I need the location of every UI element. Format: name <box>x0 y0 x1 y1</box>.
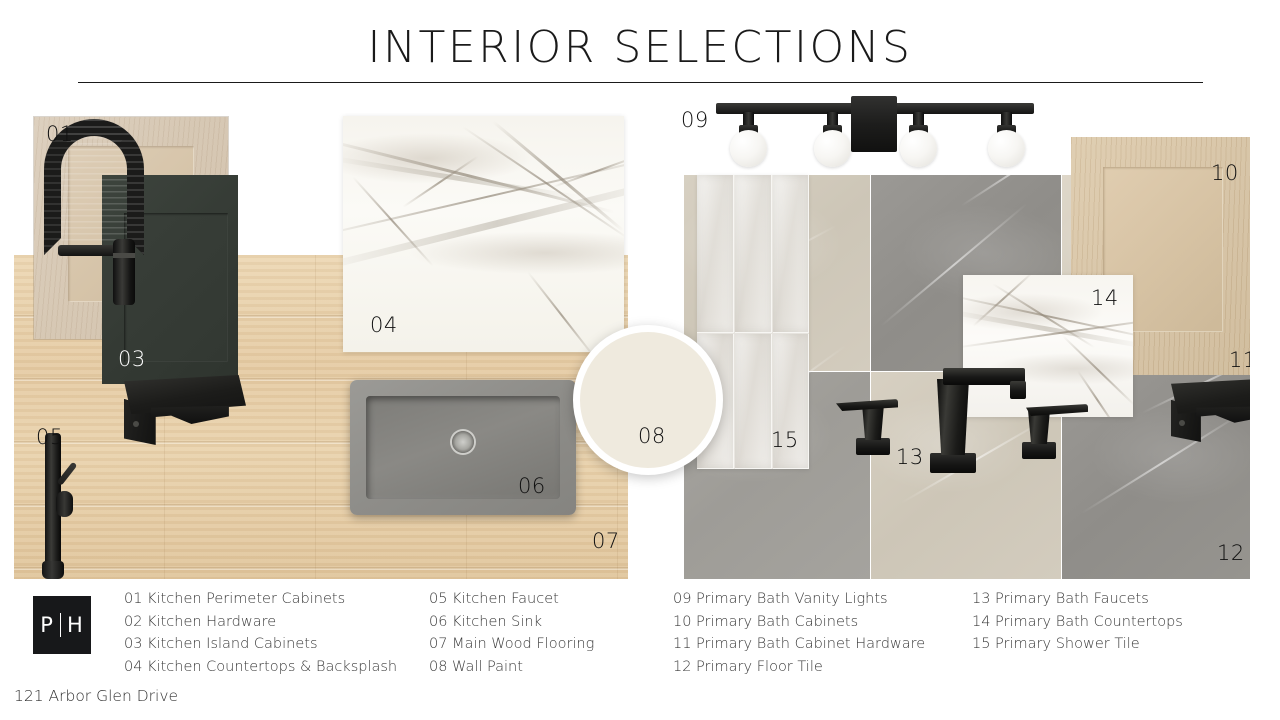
pull-lip <box>1196 406 1250 423</box>
legend-column-1: 01 Kitchen Perimeter Cabinets 02 Kitchen… <box>124 588 397 678</box>
faucet-base <box>42 561 64 579</box>
logo-mark: P H <box>40 613 83 637</box>
legend-item: 13 Primary Bath Faucets <box>972 588 1183 611</box>
shower-tile-plank <box>735 175 772 333</box>
faucet-sprayer-band <box>113 253 135 258</box>
swatch-label-14: 14 <box>1091 286 1119 310</box>
tile-vein <box>961 175 1062 206</box>
legend: 01 Kitchen Perimeter Cabinets 02 Kitchen… <box>0 588 1280 688</box>
marble-vein <box>343 174 624 273</box>
swatch-kitchen-countertops-backsplash[interactable]: 04 <box>343 116 624 352</box>
light-globe <box>814 130 851 167</box>
swatch-primary-bath-vanity-lights[interactable]: 09 <box>716 96 1034 168</box>
light-globe <box>900 130 937 167</box>
faucet-coil-highlights <box>44 119 144 255</box>
project-address: 121 Arbor Glen Drive <box>14 687 178 705</box>
faucet-handle-base <box>856 438 890 455</box>
legend-item: 02 Kitchen Hardware <box>124 611 397 634</box>
shower-tile-plank <box>735 334 772 469</box>
light-globe <box>988 130 1025 167</box>
pull-lip <box>151 406 229 424</box>
bath-selections-collage: 12 15 10 11 14 <box>684 113 1250 579</box>
legend-item: 01 Kitchen Perimeter Cabinets <box>124 588 397 611</box>
swatch-wall-paint[interactable]: 08 <box>573 325 723 475</box>
logo-letter-p: P <box>40 613 54 637</box>
marble-vein <box>527 271 596 352</box>
legend-item: 14 Primary Bath Countertops <box>972 611 1183 634</box>
pull-screw-hole <box>133 421 139 427</box>
logo-divider <box>60 613 61 637</box>
legend-item: 11 Primary Bath Cabinet Hardware <box>673 633 925 656</box>
legend-item: 09 Primary Bath Vanity Lights <box>673 588 925 611</box>
faucet-spout-base <box>930 453 976 473</box>
legend-item: 10 Primary Bath Cabinets <box>673 611 925 634</box>
swatch-label-08: 08 <box>638 424 666 448</box>
swatch-label-07: 07 <box>592 529 620 553</box>
faucet-handle-knob <box>56 491 73 517</box>
kitchen-selections-collage: 07 01 03 04 06 <box>14 113 628 579</box>
faucet-handle-lever <box>1026 404 1088 416</box>
logo-letter-h: H <box>67 613 84 637</box>
page-title: INTERIOR SELECTIONS <box>0 22 1280 73</box>
legend-item: 06 Kitchen Sink <box>429 611 594 634</box>
faucet-handle-lever <box>836 399 898 411</box>
swatch-kitchen-sink[interactable]: 06 <box>350 380 576 515</box>
legend-column-2: 05 Kitchen Faucet 06 Kitchen Sink 07 Mai… <box>429 588 594 678</box>
company-logo: P H <box>33 596 91 654</box>
faucet-spout-tip <box>1010 381 1026 399</box>
light-globe <box>730 130 767 167</box>
legend-item: 04 Kitchen Countertops & Backsplash <box>124 656 397 679</box>
shower-tile-plank <box>773 334 809 469</box>
swatch-label-04: 04 <box>370 313 398 337</box>
legend-item: 12 Primary Floor Tile <box>673 656 925 679</box>
shower-tile-plank <box>773 175 809 333</box>
legend-column-3: 09 Primary Bath Vanity Lights 10 Primary… <box>673 588 925 678</box>
legend-item: 07 Main Wood Flooring <box>429 633 594 656</box>
legend-column-4: 13 Primary Bath Faucets 14 Primary Bath … <box>972 588 1183 656</box>
swatch-primary-bath-faucets[interactable]: 13 <box>844 343 1114 473</box>
legend-item: 03 Kitchen Island Cabinets <box>124 633 397 656</box>
light-backplate <box>851 96 897 152</box>
faucet-spout-column <box>937 379 969 455</box>
faucet-sprayer-head <box>113 239 135 305</box>
swatch-primary-bath-cabinet-hardware[interactable]: 11 <box>1171 378 1250 442</box>
shower-tile-plank <box>697 175 734 333</box>
legend-item: 15 Primary Shower Tile <box>972 633 1183 656</box>
swatch-label-13: 13 <box>896 445 924 469</box>
legend-item: 05 Kitchen Faucet <box>429 588 594 611</box>
title-divider <box>78 82 1203 83</box>
faucet-handle-base <box>1022 442 1056 459</box>
swatch-kitchen-hardware-edge-pull[interactable] <box>124 375 246 445</box>
legend-item: 08 Wall Paint <box>429 656 594 679</box>
